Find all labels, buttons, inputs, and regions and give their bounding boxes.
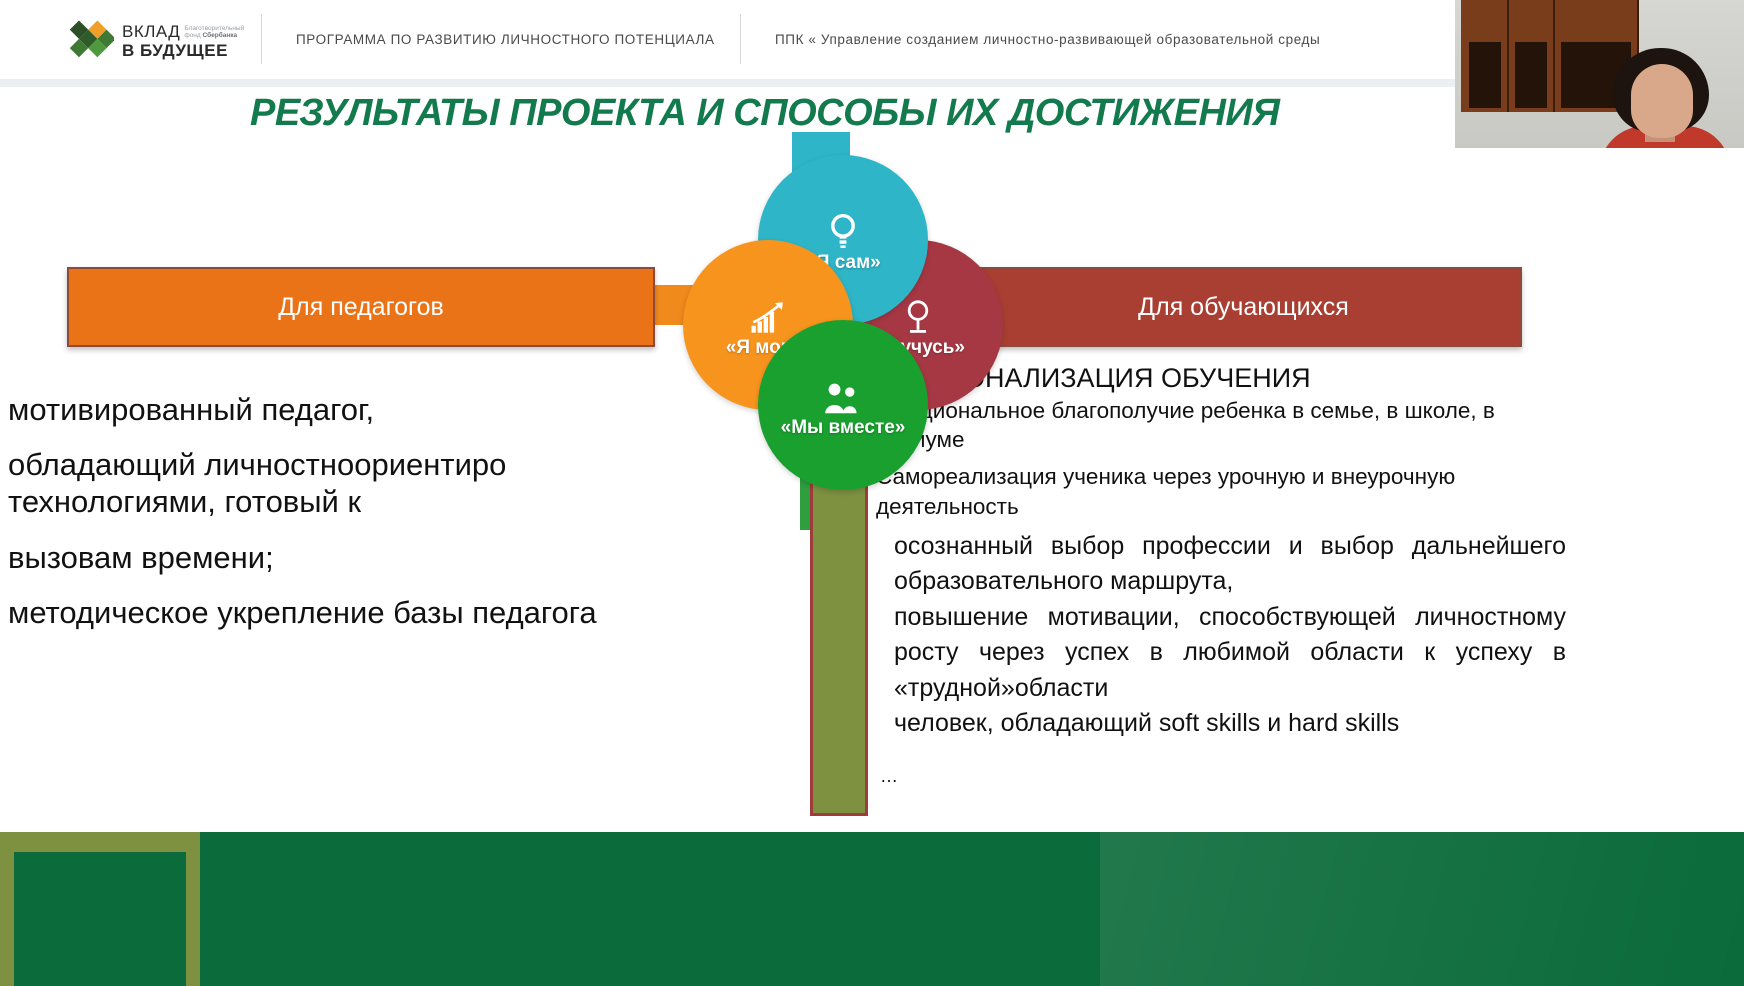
logo-sub-line1: Благотворительный <box>184 25 244 32</box>
page-title: РЕЗУЛЬТАТЫ ПРОЕКТА И СПОСОБЫ ИХ ДОСТИЖЕН… <box>250 92 1279 135</box>
participant-figure: Рашидя Шарапова <box>1605 48 1725 148</box>
video-participant-tile[interactable]: Рашидя Шарапова <box>1455 0 1744 148</box>
students-paragraph-1: Эмоциональное благополучие ребенка в сем… <box>876 396 1566 455</box>
participant-face <box>1631 64 1693 138</box>
header-divider-1 <box>261 14 262 64</box>
teachers-line-4: вызовам времени; <box>8 530 748 585</box>
cabinet-glass-2 <box>1515 42 1547 108</box>
growth-chart-icon <box>748 291 788 335</box>
people-group-icon <box>821 371 865 415</box>
band-olive-inner <box>14 852 186 986</box>
students-last-line: человек, обладающий soft skills и hard s… <box>876 706 1566 742</box>
box-for-teachers-label: Для педагогов <box>278 293 444 322</box>
students-ellipsis: … <box>876 766 1566 787</box>
header-course-label: ППК « Управление созданием личностно-раз… <box>775 32 1320 47</box>
band-sheen <box>1100 832 1744 986</box>
lightbulb-icon <box>826 206 860 250</box>
logo-sub-brand: Сбербанка <box>203 32 238 39</box>
header-divider-2 <box>740 14 741 64</box>
rhombus-logo-icon <box>68 18 114 64</box>
teachers-line-5: методическое укрепление базы педагога <box>8 585 748 640</box>
logo-word-vklad: ВКЛАД <box>122 23 180 40</box>
students-justified-2: повышение мотивации, способствующей личн… <box>876 600 1566 707</box>
cabinet-glass-1 <box>1469 42 1501 108</box>
box-for-students: Для обучающихся <box>965 267 1522 347</box>
header-program-label: ПРОГРАММА ПО РАЗВИТИЮ ЛИЧНОСТНОГО ПОТЕНЦ… <box>296 32 715 47</box>
students-paragraph-2: Самореализация ученика через урочную и в… <box>876 462 1566 521</box>
olive-vertical-bar <box>810 455 868 816</box>
students-results-text: ПЕРСОНАЛИЗАЦИЯ ОБУЧЕНИЯ Эмоциональное бл… <box>876 362 1566 787</box>
globe-stand-icon <box>902 291 934 335</box>
teachers-line-1: мотивированный педагог, <box>8 382 748 437</box>
logo-sub-line2: фонд <box>184 32 200 39</box>
students-justified-1: осознанный выбор профессии и выбор дальн… <box>876 529 1566 600</box>
presentation-screen: ВКЛАД Благотворительный фонд Сбербанка В… <box>0 0 1744 986</box>
logo-subtitle: Благотворительный фонд Сбербанка <box>184 23 244 40</box>
brand-logo: ВКЛАД Благотворительный фонд Сбербанка В… <box>68 18 253 64</box>
logo-word-budushee: В БУДУЩЕЕ <box>122 42 244 59</box>
box-for-teachers: Для педагогов <box>67 267 655 347</box>
teachers-results-text: мотивированный педагог, обладающий лично… <box>8 382 748 640</box>
box-for-students-label: Для обучающихся <box>1138 293 1349 322</box>
circle-my-vmeste: «Мы вместе» <box>758 320 928 490</box>
band-olive-corner <box>0 832 200 986</box>
circle-my-vmeste-label: «Мы вместе» <box>781 417 906 439</box>
slide-bottom-band <box>0 832 1744 986</box>
